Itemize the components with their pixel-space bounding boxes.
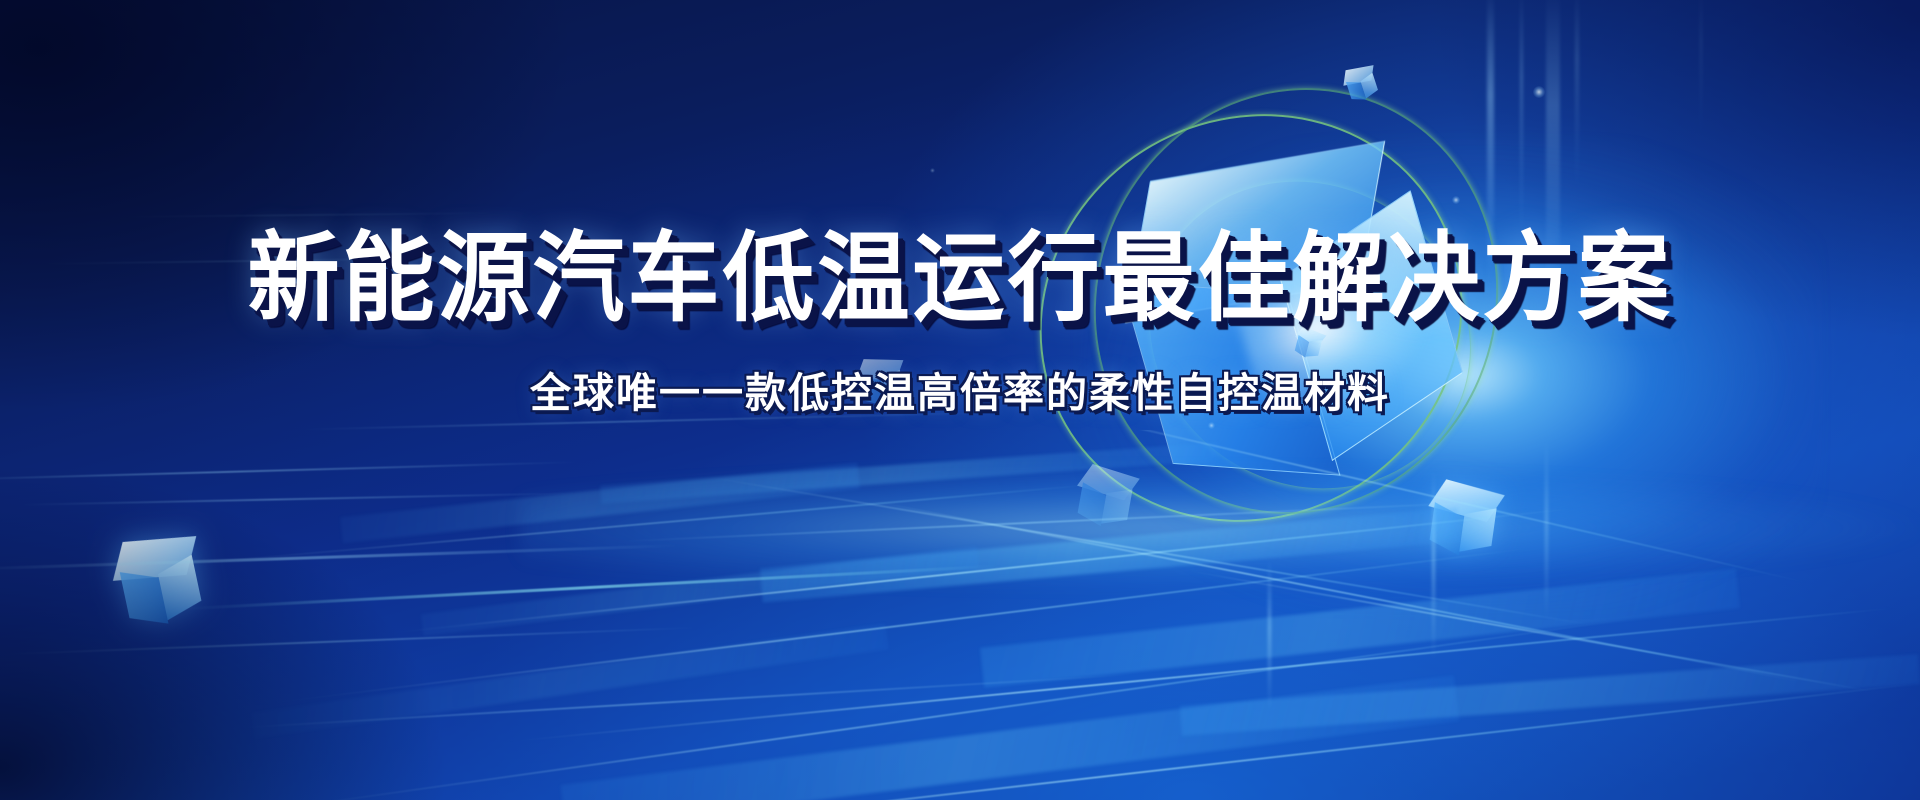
hero-banner: 新能源汽车低温运行最佳解决方案 全球唯一一款低控温高倍率的柔性自控温材料 [0,0,1920,800]
light-streak [180,565,999,611]
vertical-light-beam [1487,0,1494,290]
floating-cube [113,533,206,626]
vertical-light-beam [1268,560,1271,710]
floating-cube [858,358,904,404]
vertical-light-beam [1575,0,1579,190]
grid-line [245,547,1536,707]
glowing-crystal-cube [1080,107,1520,533]
floating-cube [1076,466,1136,526]
light-streak [620,500,1519,543]
grid-panel [1180,654,1920,736]
grid-line [564,683,1915,800]
banner-text-block: 新能源汽车低温运行最佳解决方案 全球唯一一款低控温高倍率的柔性自控温材料 [0,0,1920,800]
grid-panel [980,568,1740,687]
light-streak [40,257,460,265]
perspective-light-grid [0,430,1920,800]
grid-panel [421,546,980,636]
grid-line [869,499,1802,682]
light-streak [0,544,680,571]
vertical-light-beam [1545,440,1548,620]
light-streak [0,627,700,656]
light-streak [300,411,1000,430]
grid-line [503,607,1897,743]
floating-cube [1428,482,1500,554]
light-streak [20,492,580,506]
vignette-overlay [0,0,1920,800]
vertical-light-beam [1520,0,1523,240]
light-streak [0,461,580,481]
light-streak [241,673,1140,728]
floating-cube [1342,64,1380,102]
grid-line [383,507,1577,634]
grid-panel [340,463,860,543]
vertical-light-beam [1546,0,1560,320]
grid-line [1185,569,1875,693]
vertical-light-beam [1700,0,1702,140]
sparkle [930,168,935,173]
sparkle [1533,86,1545,98]
light-streak [120,212,500,218]
grid-panel [251,624,888,739]
grid-line [147,618,1633,800]
grid-line [122,483,1098,570]
grid-panel [561,675,1460,800]
